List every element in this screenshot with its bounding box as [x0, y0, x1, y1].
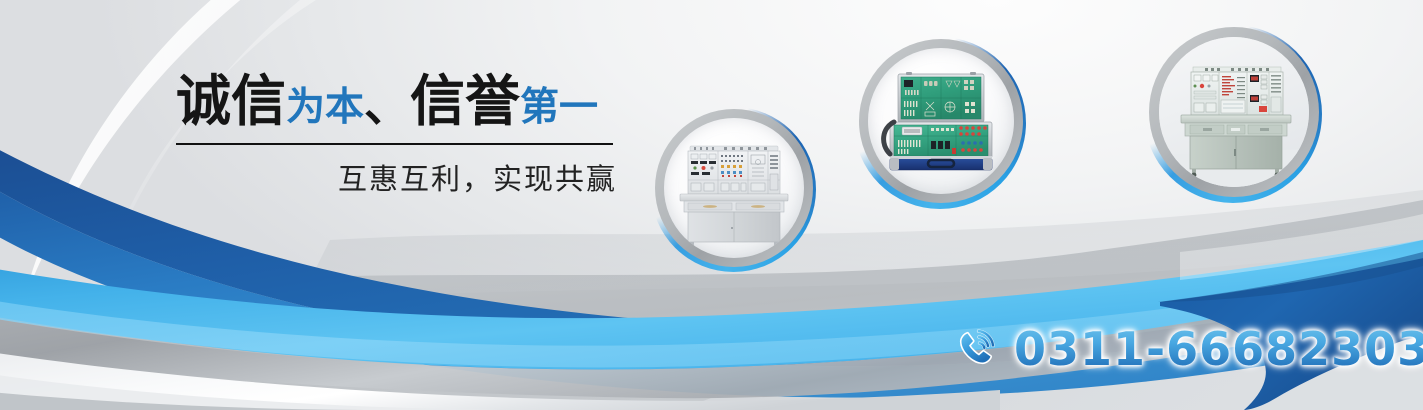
headline-block: 诚信 为本 、 信誉 第一 — [176, 74, 636, 129]
contact-phone-block[interactable]: 0311-66682303 — [952, 322, 1423, 376]
headline-segment-1: 诚信 — [176, 74, 286, 129]
headline-segment-4: 信誉 — [410, 74, 520, 129]
product-photo-training-case — [868, 48, 1014, 194]
training-case-illustration — [868, 48, 1014, 194]
promo-banner: 诚信 为本 、 信誉 第一 互惠互利，实现共赢 — [0, 0, 1423, 410]
headline-line: 诚信 为本 、 信誉 第一 — [176, 74, 636, 129]
headline-separator: 、 — [364, 82, 410, 129]
workbench-b-illustration — [1159, 37, 1309, 187]
headline-divider-rule — [176, 143, 613, 145]
product-circle-3 — [1144, 25, 1322, 203]
phone-call-icon — [952, 325, 1000, 373]
product-photo-workbench-a — [664, 118, 804, 258]
product-photo-workbench-b — [1159, 37, 1309, 187]
headline-segment-2: 为本 — [286, 88, 364, 129]
product-circle-1 — [651, 107, 816, 272]
phone-number-text[interactable]: 0311-66682303 — [1014, 322, 1423, 376]
product-circle-2 — [854, 37, 1026, 209]
headline-segment-5: 第一 — [520, 88, 598, 129]
subtitle-text: 互惠互利，实现共赢 — [338, 156, 617, 198]
workbench-a-illustration — [664, 118, 804, 258]
